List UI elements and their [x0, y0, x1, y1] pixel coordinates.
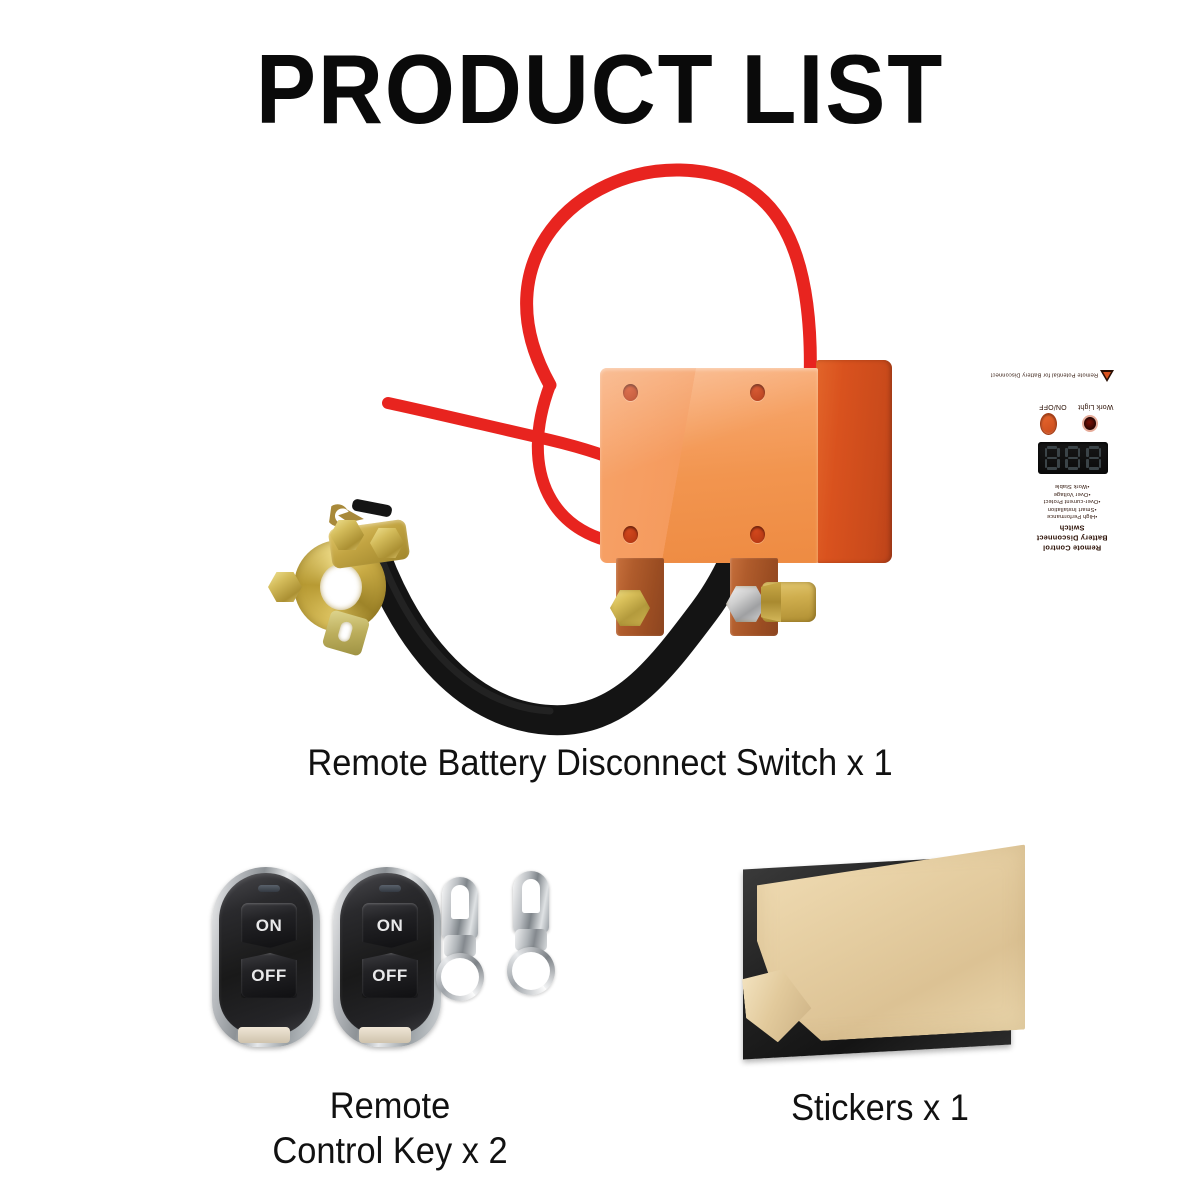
display-digit [1065, 446, 1081, 470]
fob-bottom-cap [359, 1027, 411, 1043]
caption-switch: Remote Battery Disconnect Switch x 1 [42, 740, 1158, 785]
caption-remote-keys: Remote Control Key x 2 [204, 1083, 576, 1173]
caption-stickers: Stickers x 1 [703, 1085, 1056, 1130]
onoff-label: ON/OFF [1039, 402, 1067, 411]
battery-terminal-clamp [268, 518, 448, 658]
fob-body: ON OFF [219, 873, 313, 1035]
fob-bottom-cap [238, 1027, 290, 1043]
fob-on-button[interactable]: ON [362, 903, 418, 948]
model-text: Remote Control Battery Disconnect Switch [1034, 523, 1110, 552]
page-title: PRODUCT LIST [48, 38, 1152, 141]
lobster-clasp-icon [442, 877, 478, 939]
fob-off-button[interactable]: OFF [241, 953, 297, 998]
switch-body: Remote Potential for Battery Disconnect … [600, 368, 890, 563]
warning-text: Remote Potential for Battery Disconnect [1036, 370, 1098, 377]
fob-off-button[interactable]: OFF [362, 953, 418, 998]
keychain-split-ring [507, 947, 555, 995]
remote-fob[interactable]: ON OFF [212, 867, 320, 1047]
display-digit [1044, 446, 1060, 470]
fob-led-icon [258, 885, 280, 892]
display-digit [1086, 446, 1102, 470]
warning-triangle-icon [1100, 370, 1114, 382]
fob-on-button[interactable]: ON [241, 903, 297, 948]
screw-hole [750, 384, 765, 401]
screw-hole [750, 526, 765, 543]
screw-hole [623, 526, 638, 543]
switch-side-panel: Remote Potential for Battery Disconnect … [816, 360, 892, 563]
brass-terminal [762, 582, 816, 622]
keychain [432, 877, 488, 1027]
product-item-switch: Remote Potential for Battery Disconnect … [250, 140, 970, 740]
fob-led-icon [379, 885, 401, 892]
lobster-clasp-icon [513, 871, 549, 933]
keychain [503, 871, 559, 1021]
screw-hole [623, 384, 638, 401]
work-light-label: Work Light [1078, 402, 1113, 411]
remote-fob[interactable]: ON OFF [333, 867, 441, 1047]
product-item-remote-keys: ON OFF ON OFF [200, 855, 580, 1055]
led-indicator [1084, 417, 1096, 430]
digital-display [1038, 442, 1108, 474]
switch-front-face [600, 368, 818, 563]
keychain-split-ring [436, 953, 484, 1001]
product-item-stickers [735, 852, 1025, 1067]
onoff-button[interactable] [1040, 413, 1057, 435]
caption-remote-keys-line2: Control Key x 2 [204, 1128, 576, 1173]
features-text: •High Performance •Smart Installation •O… [1036, 482, 1108, 519]
caption-remote-keys-line1: Remote [204, 1083, 576, 1128]
fob-body: ON OFF [340, 873, 434, 1035]
